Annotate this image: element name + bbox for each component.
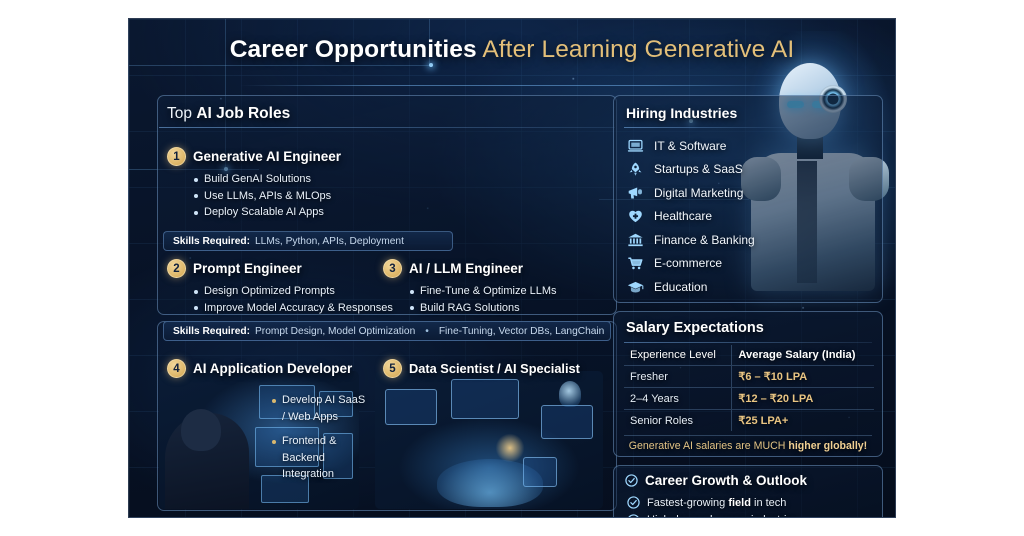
skills-label: Skills Required: (173, 326, 250, 337)
industry-item-healthcare[interactable]: Healthcare (626, 205, 826, 229)
industry-item-startups-saas[interactable]: Startups & SaaS (626, 158, 826, 182)
title-primary: Career Opportunities (230, 36, 477, 63)
role-2-bullets: Design Optimized Prompts Improve Model A… (193, 283, 393, 316)
industry-label: Startups & SaaS (654, 162, 743, 176)
role-bullet: Improve Model Accuracy & Responses (193, 300, 393, 317)
salary-note-bold: higher globally! (788, 440, 867, 452)
salary-table-header-row: Experience Level Average Salary (India) (624, 345, 874, 366)
rocket-icon (626, 161, 645, 178)
role-bullet: Build GenAI Solutions (193, 171, 341, 188)
salary-column-header-amount: Average Salary (India) (732, 345, 874, 366)
list-item: Fastest-growing field in tech (627, 494, 798, 512)
salary-level: Senior Roles (624, 410, 732, 432)
industry-item-digital-marketing[interactable]: Digital Marketing (626, 181, 826, 205)
bank-icon (626, 231, 645, 248)
role-3-bullets: Fine-Tune & Optimize LLMs Build RAG Solu… (409, 283, 557, 316)
role-title: AI Application Developer (193, 361, 352, 376)
header-divider (239, 85, 787, 86)
role-1-bullets: Build GenAI Solutions Use LLMs, APIs & M… (193, 171, 341, 221)
industry-item-ecommerce[interactable]: E-commerce (626, 252, 826, 276)
salary-amount: ₹12 – ₹20 LPA (732, 388, 874, 410)
role-4-header: 4 AI Application Developer (167, 359, 352, 378)
industry-label: Finance & Banking (654, 233, 755, 247)
growth-bold: field (728, 497, 751, 509)
hiring-industries-list: IT & Software Startups & SaaS Digital Ma… (626, 134, 826, 299)
role-1-header: 1 Generative AI Engineer (167, 147, 341, 166)
job-role-card-3[interactable]: 3 AI / LLM Engineer Fine-Tune & Optimize… (383, 259, 557, 316)
roles-heading-bold: AI Job Roles (196, 105, 290, 122)
role-3-header: 3 AI / LLM Engineer (383, 259, 557, 278)
role-bullet: Build RAG Solutions (409, 300, 557, 317)
hiring-industries-panel: Hiring Industries IT & Software Startups… (613, 95, 883, 303)
role-title: Generative AI Engineer (193, 149, 341, 164)
role-title: Prompt Engineer (193, 261, 302, 276)
title-secondary: After Learning Generative AI (482, 36, 794, 63)
laptop-icon (626, 137, 645, 154)
role-bullet: Fine-Tune & Optimize LLMs (409, 283, 557, 300)
salary-expectations-title: Salary Expectations (626, 320, 764, 336)
salary-expectations-panel: Salary Expectations Experience Level Ave… (613, 311, 883, 457)
job-role-card-4[interactable]: 4 AI Application Developer (167, 359, 352, 378)
industry-item-education[interactable]: Education (626, 275, 826, 299)
role-bullet: Develop AI SaaS / Web Apps (271, 392, 367, 425)
role-bullet: Design Optimized Prompts (193, 283, 393, 300)
shopping-cart-icon (626, 255, 645, 272)
salary-amount: ₹25 LPA+ (732, 410, 874, 432)
page-title: Career Opportunities After Learning Gene… (230, 36, 795, 64)
role-4-bullets: Develop AI SaaS / Web Apps Frontend & Ba… (271, 392, 367, 483)
industry-label: IT & Software (654, 139, 726, 153)
growth-item-text: High demand across industries (647, 514, 798, 518)
industry-item-it-software[interactable]: IT & Software (626, 134, 826, 158)
job-role-card-1[interactable]: 1 Generative AI Engineer Build GenAI Sol… (167, 147, 341, 221)
skills-required-bar-2: Skills Required: Prompt Design, Model Op… (163, 321, 611, 341)
hiring-title-divider (624, 127, 784, 128)
industry-label: Digital Marketing (654, 186, 743, 200)
check-circle-icon (627, 514, 640, 518)
career-growth-title-row: Career Growth & Outlook (625, 473, 807, 488)
infographic-poster: Career Opportunities After Learning Gene… (128, 18, 896, 518)
poster-header: Career Opportunities After Learning Gene… (129, 19, 895, 81)
role-bullet: Deploy Scalable AI Apps (193, 204, 341, 221)
salary-table: Experience Level Average Salary (India) … (624, 345, 874, 431)
skills-value: LLMs, Python, APIs, Deployment (255, 236, 404, 247)
job-role-card-2[interactable]: 2 Prompt Engineer Design Optimized Promp… (167, 259, 393, 316)
role-bullet: Use LLMs, APIs & MLOps (193, 188, 341, 205)
growth-item-text: Fastest-growing field in tech (647, 497, 786, 509)
data-science-illustration (375, 371, 603, 509)
role-bullet: Frontend & Backend Integration (271, 433, 367, 483)
growth-prefix: Fastest-growing (647, 497, 728, 509)
check-circle-icon (625, 474, 638, 487)
screenshot-canvas: Career Opportunities After Learning Gene… (0, 0, 1024, 536)
graduation-cap-icon (626, 278, 645, 295)
role-number-badge: 2 (167, 259, 186, 278)
salary-note: Generative AI salaries are MUCH higher g… (614, 440, 882, 452)
role-5-header: 5 Data Scientist / AI Specialist (383, 359, 580, 378)
industry-item-finance-banking[interactable]: Finance & Banking (626, 228, 826, 252)
table-row: Senior Roles ₹25 LPA+ (624, 410, 874, 432)
table-row: 2–4 Years ₹12 – ₹20 LPA (624, 388, 874, 410)
table-row: Fresher ₹6 – ₹10 LPA (624, 366, 874, 388)
skills-value-2: Fine-Tuning, Vector DBs, LangChain (439, 326, 605, 337)
growth-prefix: High demand across industries (647, 514, 798, 518)
role-number-badge: 4 (167, 359, 186, 378)
skills-value: Prompt Design, Model Optimization (255, 326, 415, 337)
role-number-badge: 5 (383, 359, 402, 378)
health-icon (626, 208, 645, 225)
roles-section-heading: Top AI Job Roles (167, 105, 290, 123)
skills-required-bar-1: Skills Required: LLMs, Python, APIs, Dep… (163, 231, 453, 251)
growth-suffix: in tech (751, 497, 786, 509)
industry-label: Healthcare (654, 209, 712, 223)
salary-title-divider (624, 342, 872, 343)
role-number-badge: 1 (167, 147, 186, 166)
role-title: Data Scientist / AI Specialist (409, 361, 580, 376)
salary-column-header-level: Experience Level (624, 345, 732, 366)
role-number-badge: 3 (383, 259, 402, 278)
salary-amount: ₹6 – ₹10 LPA (732, 366, 874, 388)
role-title: AI / LLM Engineer (409, 261, 523, 276)
megaphone-icon (626, 184, 645, 201)
skills-label: Skills Required: (173, 236, 250, 247)
career-growth-list: Fastest-growing field in tech High deman… (627, 494, 798, 518)
check-circle-icon (627, 496, 640, 509)
job-role-card-5[interactable]: 5 Data Scientist / AI Specialist (383, 359, 580, 378)
role-2-header: 2 Prompt Engineer (167, 259, 393, 278)
salary-note-divider (624, 435, 872, 436)
list-item: High demand across industries (627, 512, 798, 519)
career-growth-title: Career Growth & Outlook (645, 473, 807, 488)
industry-label: E-commerce (654, 256, 722, 270)
career-growth-panel: Career Growth & Outlook Fastest-growing … (613, 465, 883, 518)
hiring-industries-title: Hiring Industries (626, 105, 737, 121)
roles-heading-divider (159, 127, 615, 128)
salary-level: Fresher (624, 366, 732, 388)
industry-label: Education (654, 280, 707, 294)
skills-separator: • (420, 326, 434, 337)
salary-note-prefix: Generative AI salaries are MUCH (629, 440, 789, 452)
salary-level: 2–4 Years (624, 388, 732, 410)
roles-heading-light: Top (167, 105, 196, 122)
